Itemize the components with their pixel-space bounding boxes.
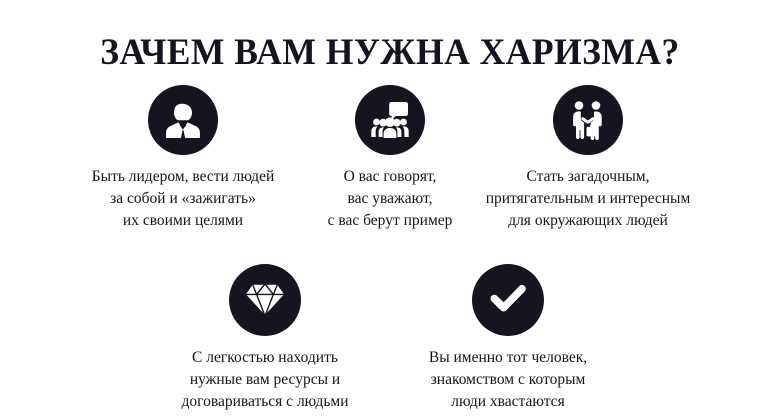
group-speech-bubble-icon (368, 98, 412, 142)
infographic-page: ЗАЧЕМ ВАМ НУЖНА ХАРИЗМА? Быть лидером, в… (0, 0, 780, 416)
businessman-icon (160, 97, 206, 143)
benefit-item-leader: Быть лидером, вести людей за собой и «за… (33, 85, 333, 232)
benefit-caption: Быть лидером, вести людей за собой и «за… (33, 166, 333, 232)
icon-circle-mystery (553, 85, 623, 155)
icon-circle-leader (148, 85, 218, 155)
benefit-caption: Стать загадочным, притягательным и интер… (458, 166, 718, 232)
icon-circle-reputation (355, 85, 425, 155)
icon-circle-resources (229, 264, 301, 336)
handshake-icon (566, 98, 610, 142)
benefit-caption: Вы именно тот человек, знакомством с кот… (393, 347, 623, 413)
benefit-caption: С легкостью находить нужные вам ресурсы … (145, 347, 385, 413)
benefit-item-resources: С легкостью находить нужные вам ресурсы … (145, 264, 385, 413)
checkmark-icon (488, 284, 528, 316)
benefit-item-desirable: Вы именно тот человек, знакомством с кот… (393, 264, 623, 413)
benefit-item-mystery: Стать загадочным, притягательным и интер… (458, 85, 718, 232)
diamond-icon (244, 281, 286, 319)
icon-circle-desirable (472, 264, 544, 336)
page-title: ЗАЧЕМ ВАМ НУЖНА ХАРИЗМА? (16, 31, 765, 75)
